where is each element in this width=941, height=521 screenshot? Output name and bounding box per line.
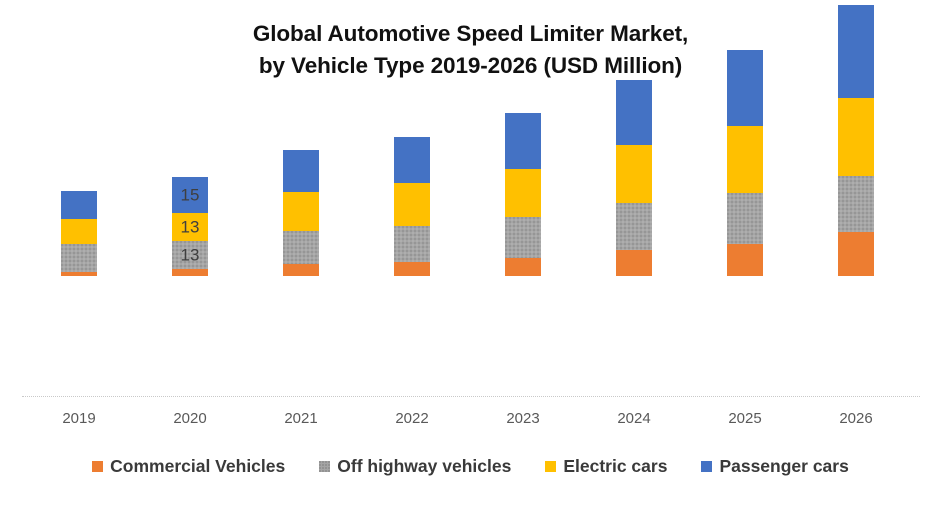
bar-segment-electric-2023[interactable] bbox=[505, 169, 541, 217]
bar-value-label-electric-2020: 13 bbox=[172, 219, 208, 236]
bar-segment-offhighway-2019[interactable] bbox=[61, 244, 97, 272]
chart-legend: Commercial VehiclesOff highway vehiclesE… bbox=[0, 458, 941, 476]
plot-area: 131315 20192020202120222023202420252026 bbox=[0, 0, 941, 400]
legend-swatch-icon-1 bbox=[319, 461, 330, 472]
bar-stack-2020[interactable]: 131315 bbox=[172, 177, 208, 276]
bar-segment-commercial-2021[interactable] bbox=[283, 264, 319, 276]
bar-segment-commercial-2023[interactable] bbox=[505, 258, 541, 276]
bar-stack-2021[interactable] bbox=[283, 150, 319, 276]
legend-label-1: Off highway vehicles bbox=[337, 458, 511, 476]
bar-segment-offhighway-2021[interactable] bbox=[283, 231, 319, 264]
bar-segment-offhighway-2022[interactable] bbox=[394, 226, 430, 262]
x-tick-label-2024: 2024 bbox=[594, 410, 674, 427]
bar-segment-electric-2021[interactable] bbox=[283, 192, 319, 231]
bar-segment-passenger-2021[interactable] bbox=[283, 150, 319, 192]
bar-segment-offhighway-2023[interactable] bbox=[505, 217, 541, 258]
bar-stack-2019[interactable] bbox=[61, 191, 97, 276]
legend-item-off-highway-vehicles[interactable]: Off highway vehicles bbox=[319, 458, 511, 476]
legend-label-2: Electric cars bbox=[563, 458, 667, 476]
bar-segment-electric-2025[interactable] bbox=[727, 126, 763, 193]
legend-item-commercial-vehicles[interactable]: Commercial Vehicles bbox=[92, 458, 285, 476]
bar-segment-offhighway-2026[interactable] bbox=[838, 176, 874, 232]
x-tick-label-2020: 2020 bbox=[150, 410, 230, 427]
bar-segment-electric-2022[interactable] bbox=[394, 183, 430, 226]
bar-segment-passenger-2023[interactable] bbox=[505, 113, 541, 169]
bar-stack-2022[interactable] bbox=[394, 137, 430, 276]
x-tick-label-2022: 2022 bbox=[372, 410, 452, 427]
bar-segment-passenger-2026[interactable] bbox=[838, 5, 874, 98]
bar-segment-offhighway-2025[interactable] bbox=[727, 193, 763, 244]
bar-segment-electric-2019[interactable] bbox=[61, 219, 97, 244]
x-tick-label-2025: 2025 bbox=[705, 410, 785, 427]
chart-container: Global Automotive Speed Limiter Market, … bbox=[0, 0, 941, 521]
bar-segment-commercial-2025[interactable] bbox=[727, 244, 763, 276]
legend-swatch-icon-3 bbox=[701, 461, 712, 472]
bar-segment-electric-2024[interactable] bbox=[616, 145, 652, 203]
legend-swatch-icon-0 bbox=[92, 461, 103, 472]
x-tick-label-2019: 2019 bbox=[39, 410, 119, 427]
x-tick-label-2021: 2021 bbox=[261, 410, 341, 427]
bar-stack-2026[interactable] bbox=[838, 5, 874, 276]
bar-segment-passenger-2020[interactable]: 15 bbox=[172, 177, 208, 213]
bar-segment-electric-2026[interactable] bbox=[838, 98, 874, 176]
bar-segment-passenger-2025[interactable] bbox=[727, 50, 763, 126]
bar-segment-commercial-2020[interactable] bbox=[172, 269, 208, 276]
legend-swatch-icon-2 bbox=[545, 461, 556, 472]
legend-item-passenger-cars[interactable]: Passenger cars bbox=[701, 458, 848, 476]
bar-value-label-offhighway-2020: 13 bbox=[172, 247, 208, 264]
legend-label-0: Commercial Vehicles bbox=[110, 458, 285, 476]
bar-stack-2023[interactable] bbox=[505, 113, 541, 276]
bar-segment-commercial-2026[interactable] bbox=[838, 232, 874, 276]
bar-segment-offhighway-2024[interactable] bbox=[616, 203, 652, 250]
x-tick-label-2023: 2023 bbox=[483, 410, 563, 427]
bar-segment-commercial-2024[interactable] bbox=[616, 250, 652, 276]
bar-segment-passenger-2022[interactable] bbox=[394, 137, 430, 183]
legend-label-3: Passenger cars bbox=[719, 458, 848, 476]
legend-item-electric-cars[interactable]: Electric cars bbox=[545, 458, 667, 476]
bar-segment-passenger-2019[interactable] bbox=[61, 191, 97, 219]
x-tick-label-2026: 2026 bbox=[816, 410, 896, 427]
bar-stack-2024[interactable] bbox=[616, 80, 652, 276]
bar-segment-commercial-2022[interactable] bbox=[394, 262, 430, 276]
bar-segment-electric-2020[interactable]: 13 bbox=[172, 213, 208, 241]
bar-segment-offhighway-2020[interactable]: 13 bbox=[172, 241, 208, 269]
x-axis-line bbox=[22, 396, 920, 397]
bar-value-label-passenger-2020: 15 bbox=[172, 187, 208, 204]
bar-stack-2025[interactable] bbox=[727, 50, 763, 276]
bar-segment-commercial-2019[interactable] bbox=[61, 272, 97, 276]
bar-segment-passenger-2024[interactable] bbox=[616, 80, 652, 145]
